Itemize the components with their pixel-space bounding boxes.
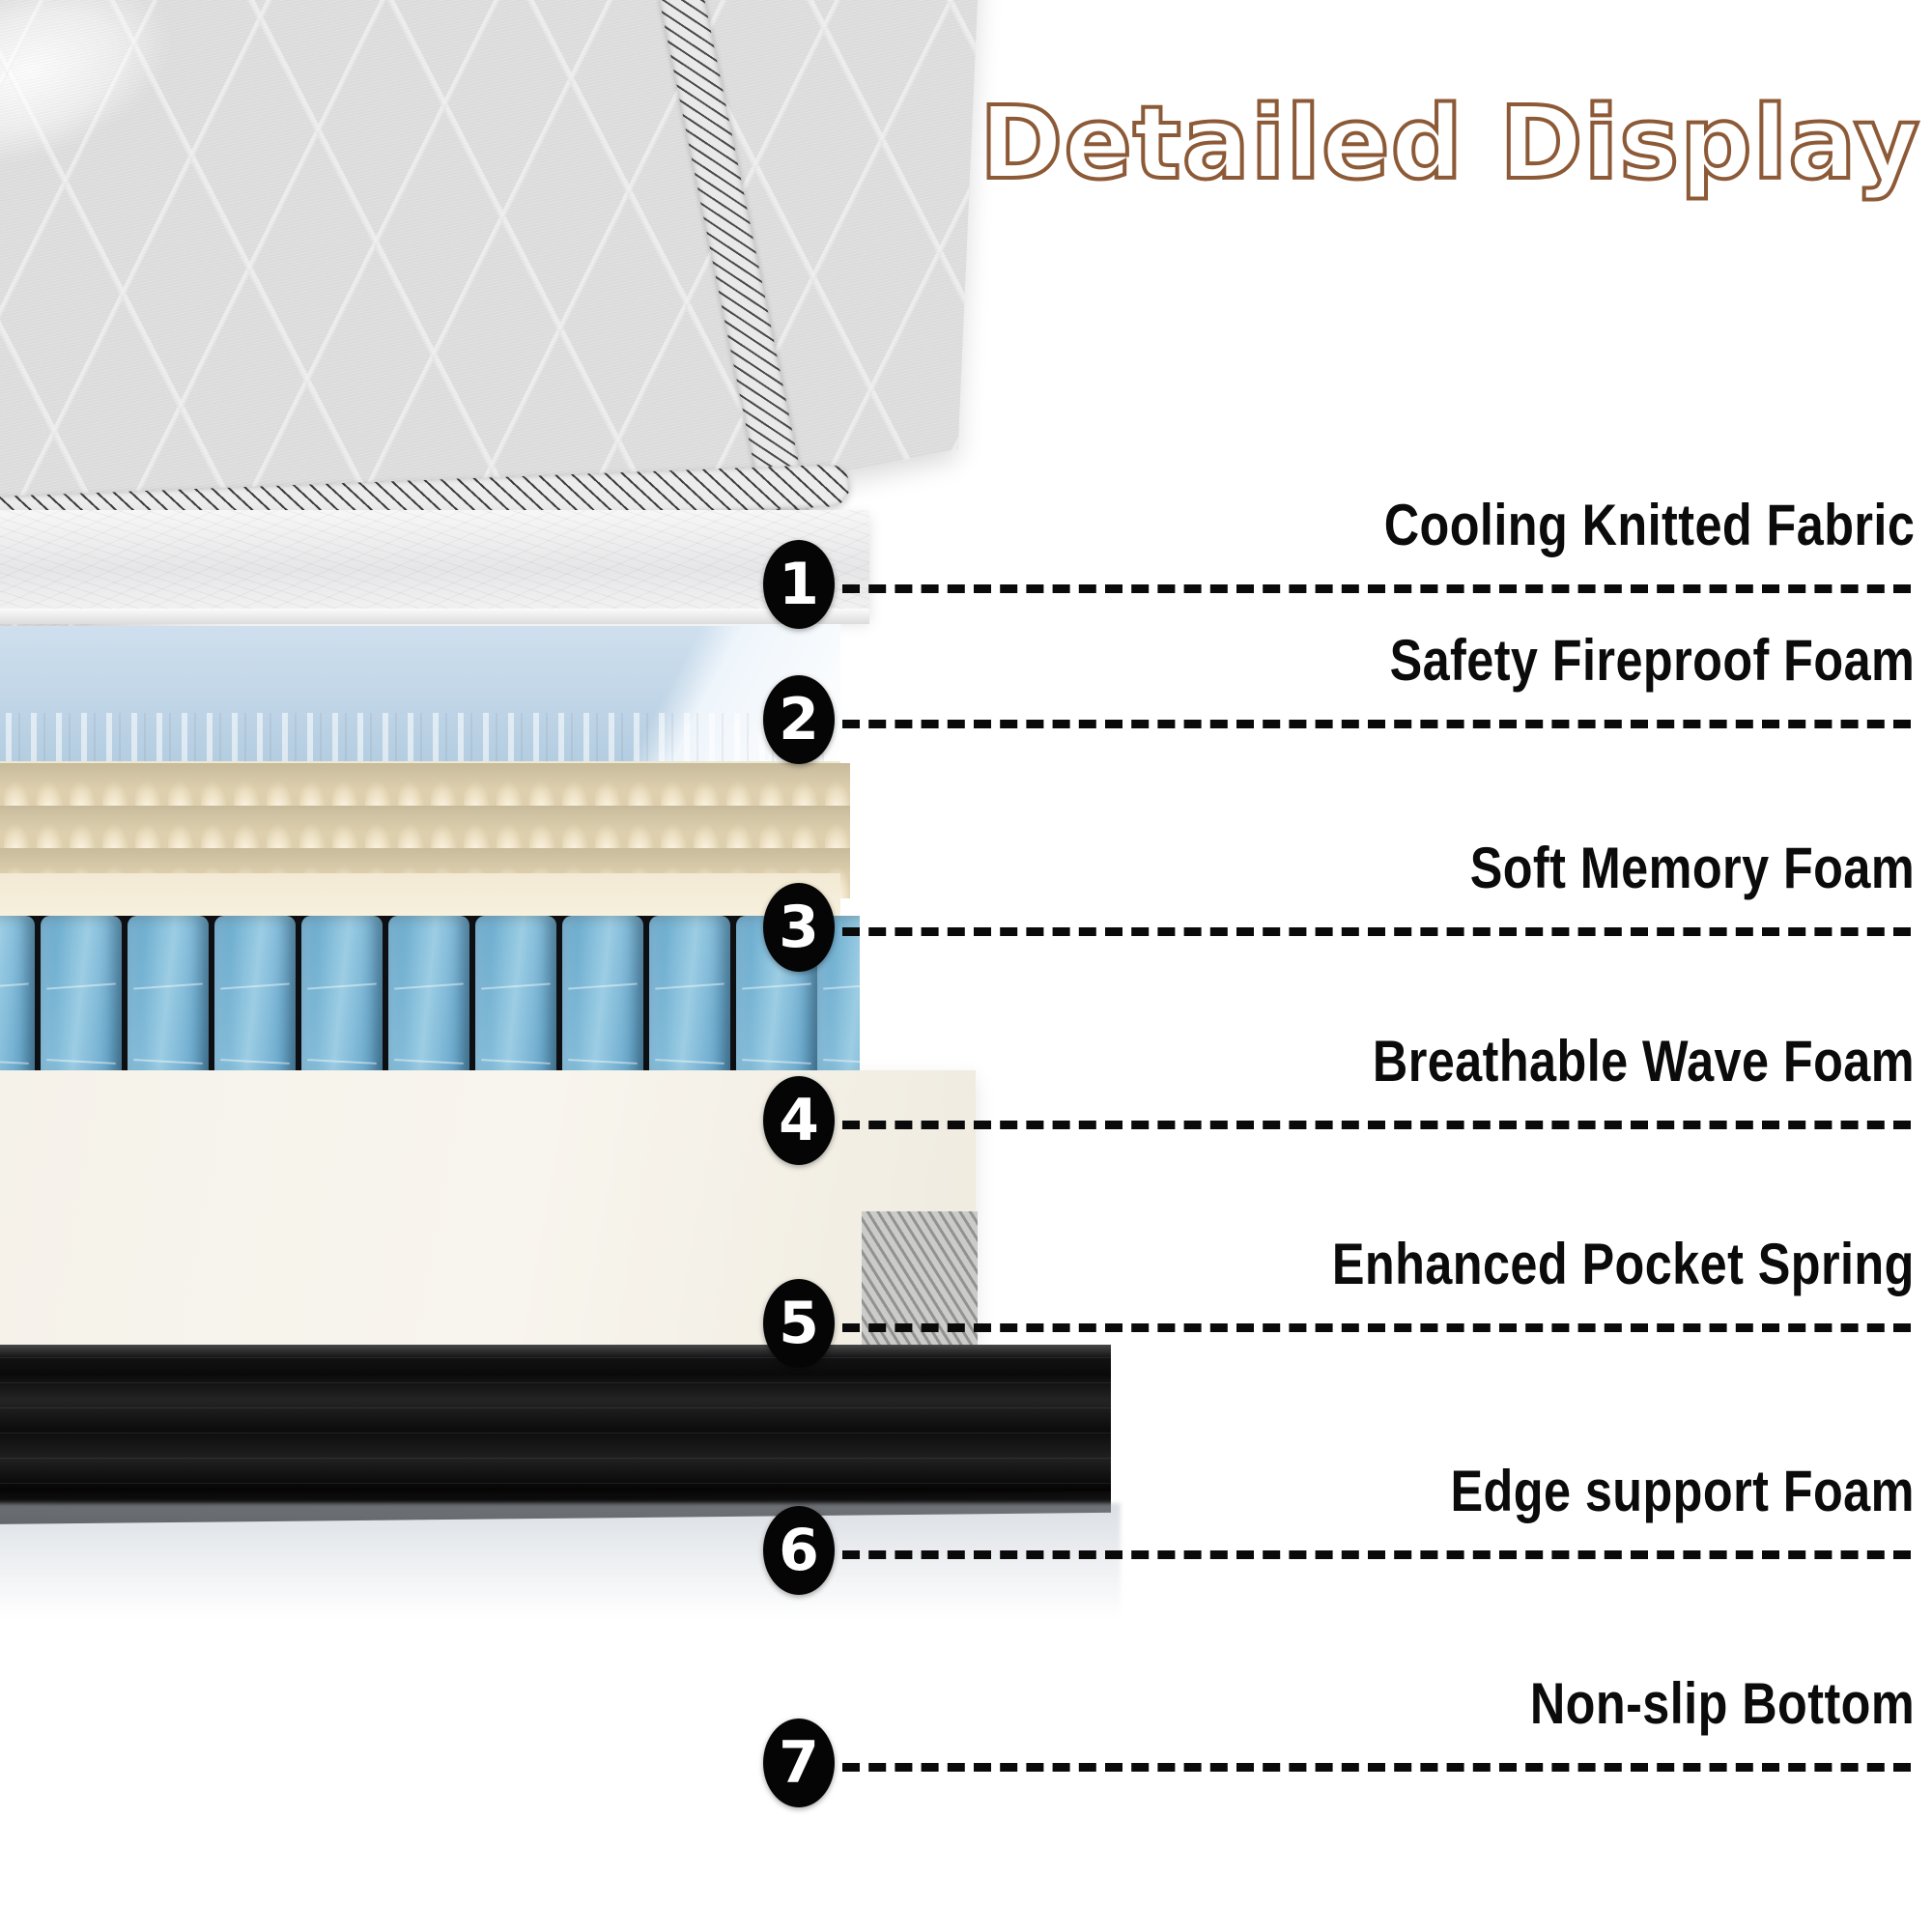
- foam-lip: [0, 609, 869, 624]
- floor-reflection: [0, 1503, 1121, 1619]
- callout-badge-number: 1: [779, 555, 819, 613]
- callout-leader-line-4: [842, 1121, 1911, 1129]
- callout-leader-line-6: [842, 1550, 1911, 1559]
- non-slip-ribs: [0, 1345, 1111, 1509]
- callout-label-1: Cooling Knitted Fabric: [1383, 492, 1915, 558]
- callout-badge-5: 5: [763, 1279, 835, 1368]
- callout-badge-2: 2: [763, 675, 835, 764]
- callout-leader-line-7: [842, 1763, 1911, 1772]
- non-slip-sheen: [0, 1345, 1111, 1358]
- callout-badge-number: 7: [779, 1734, 819, 1792]
- callout-label-3: Soft Memory Foam: [1470, 835, 1915, 901]
- mattress-cutaway-illustration: [0, 0, 1932, 1932]
- callout-badge-6: 6: [763, 1506, 835, 1595]
- callout-badge-4: 4: [763, 1076, 835, 1165]
- callout-badge-3: 3: [763, 883, 835, 972]
- memory-foam-flutes: [0, 713, 831, 761]
- layer-soft-memory-foam: [0, 626, 831, 761]
- callout-leader-line-2: [842, 720, 1911, 728]
- callout-leader-line-1: [842, 584, 1911, 593]
- layer-non-slip-bottom: [0, 1345, 1111, 1509]
- callout-badge-7: 7: [763, 1719, 835, 1807]
- callout-leader-line-5: [842, 1323, 1911, 1332]
- callout-badge-1: 1: [763, 540, 835, 629]
- callout-badge-number: 6: [779, 1521, 819, 1579]
- callout-label-6: Edge support Foam: [1451, 1458, 1915, 1524]
- callout-badge-number: 5: [779, 1294, 819, 1352]
- callout-label-5: Enhanced Pocket Spring: [1332, 1231, 1915, 1297]
- layer-breathable-wave-foam: [0, 761, 840, 916]
- wave-foam-base: [0, 873, 840, 916]
- callout-badge-number: 2: [779, 691, 819, 749]
- callout-label-4: Breathable Wave Foam: [1373, 1028, 1915, 1094]
- callout-badge-number: 3: [779, 898, 819, 956]
- layer-safety-fireproof-foam: [0, 510, 869, 618]
- callout-label-7: Non-slip Bottom: [1530, 1670, 1915, 1737]
- product-detail-infographic: Detailed Display 1Cooling Knitted Fabric…: [0, 0, 1932, 1932]
- callout-badge-number: 4: [779, 1092, 819, 1150]
- fiber-texture: [0, 510, 869, 618]
- page-title: Detailed Display: [980, 93, 1920, 193]
- callout-label-2: Safety Fireproof Foam: [1389, 627, 1915, 694]
- callout-leader-line-3: [842, 927, 1911, 936]
